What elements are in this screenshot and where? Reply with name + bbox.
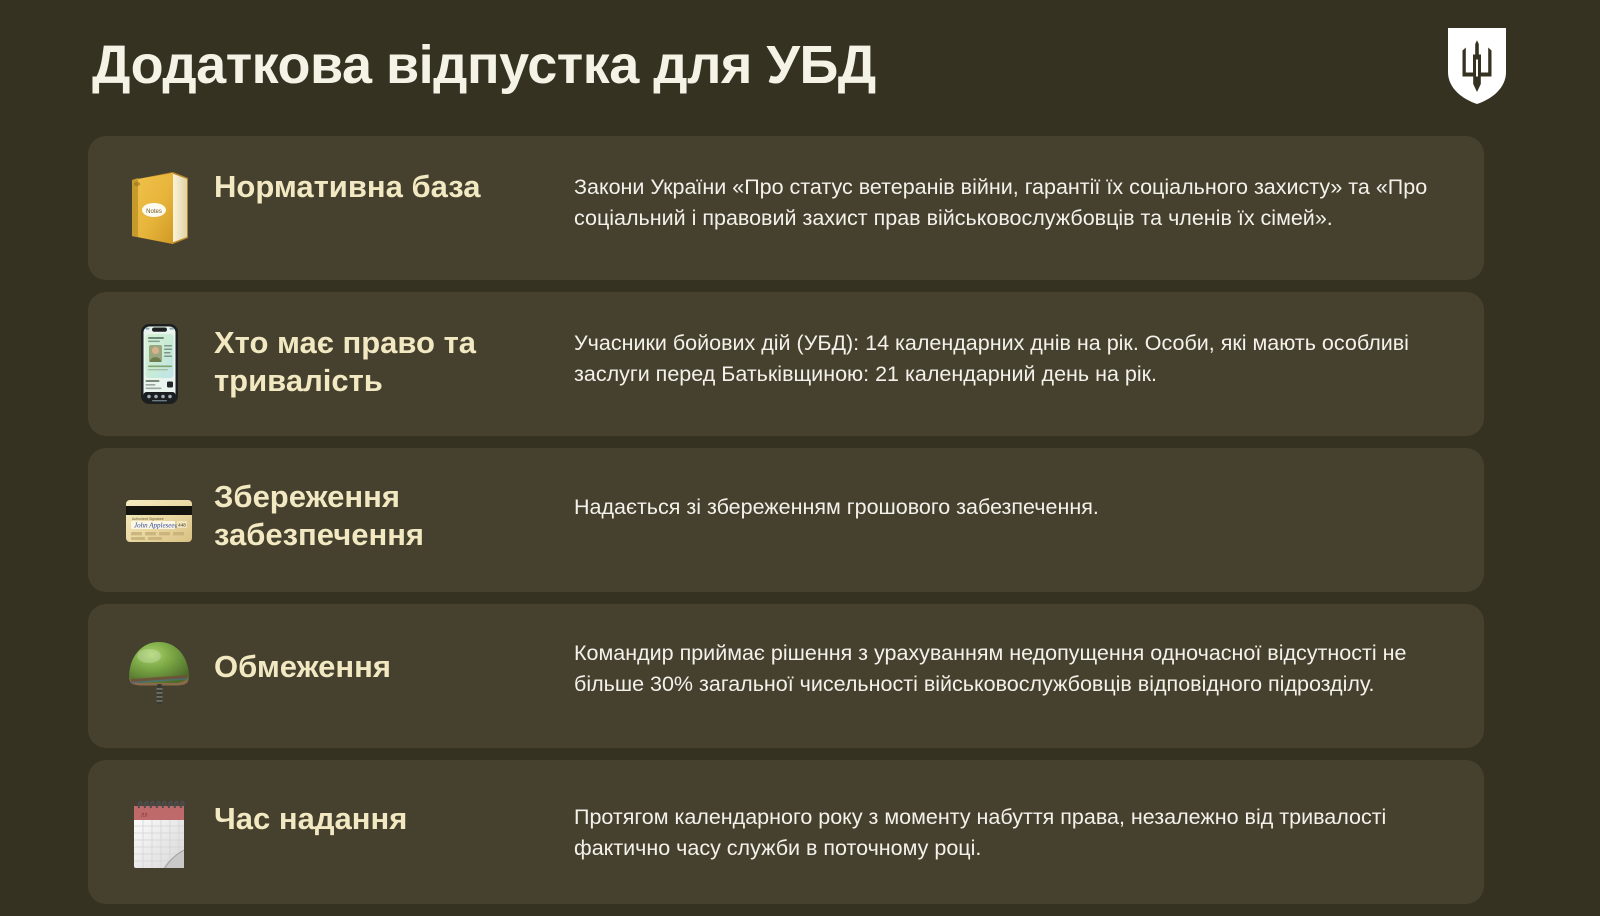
- card-body: Закони України «Про статус ветеранів вій…: [574, 158, 1458, 233]
- notebook-icon: Notes: [116, 158, 202, 258]
- card-row-restrictions: Обмеження Командир приймає рішення з ура…: [88, 604, 1484, 748]
- tear-off-calendar-icon: ЛЛ: [116, 782, 202, 882]
- svg-text:ЛЛ: ЛЛ: [141, 813, 148, 819]
- svg-text:Authorized Signature: Authorized Signature: [132, 517, 164, 521]
- card-row-normative-base: Notes Нормативна база Закони України «Пр…: [88, 136, 1484, 280]
- card-heading: Нормативна база: [214, 158, 574, 206]
- cards-list: Notes Нормативна база Закони України «Пр…: [88, 136, 1484, 916]
- phone-id-card-icon: [116, 314, 202, 414]
- svg-text:448: 448: [178, 523, 186, 528]
- card-heading: Обмеження: [214, 626, 574, 686]
- infographic-page: Додаткова відпустка для УБД: [0, 0, 1600, 901]
- ukrainian-armed-forces-trident-shield-icon: [1446, 26, 1508, 106]
- card-body: Протягом календарного року з моменту наб…: [574, 782, 1458, 863]
- svg-text:Notes: Notes: [146, 209, 162, 215]
- card-row-eligibility-and-duration: Хто має право та тривалість Учасники бой…: [88, 292, 1484, 436]
- card-row-pay-retention: Authorized Signature John Appleseed 448: [88, 448, 1484, 592]
- page-title: Додаткова відпустка для УБД: [92, 36, 876, 95]
- credit-card-icon: Authorized Signature John Appleseed 448: [116, 470, 202, 570]
- military-helmet-icon: [116, 626, 202, 726]
- card-body: Командир приймає рішення з урахуванням н…: [574, 626, 1458, 699]
- card-row-timing: ЛЛ: [88, 760, 1484, 904]
- svg-text:John Appleseed: John Appleseed: [134, 522, 178, 530]
- header: Додаткова відпустка для УБД: [0, 0, 1600, 132]
- card-body: Учасники бойових дій (УБД): 14 календарн…: [574, 314, 1458, 389]
- card-heading: Час надання: [214, 782, 574, 838]
- card-heading: Збереження забезпечення: [214, 470, 574, 555]
- card-body: Надається зі збереженням грошового забез…: [574, 470, 1458, 523]
- card-heading: Хто має право та тривалість: [214, 314, 574, 401]
